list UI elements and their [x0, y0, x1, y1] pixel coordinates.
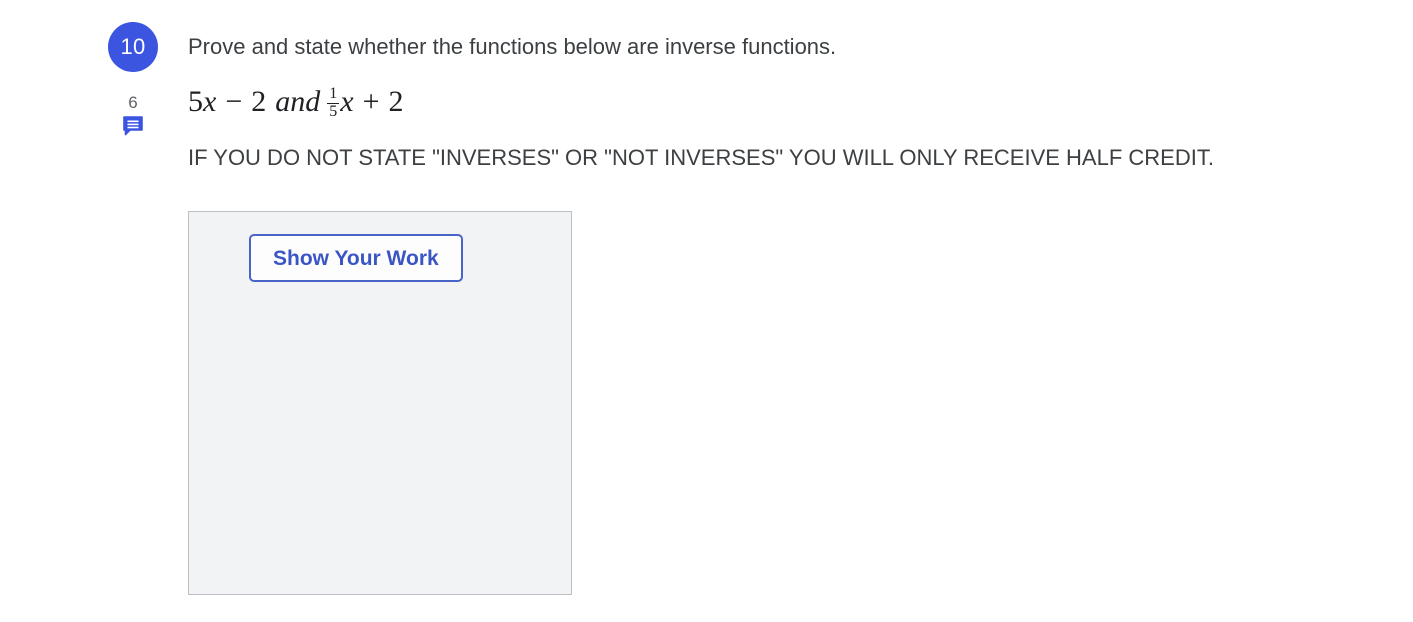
- fraction-denominator: 5: [327, 103, 339, 121]
- math-constant-2: 2: [389, 85, 404, 118]
- question-instruction-text: IF YOU DO NOT STATE "INVERSES" OR "NOT I…: [188, 142, 1214, 174]
- math-coefficient-1: 5: [188, 85, 203, 118]
- math-variable-2: x: [340, 85, 353, 118]
- math-fraction-one-fifth: 15: [327, 86, 339, 121]
- question-gutter: 10 6: [100, 22, 166, 137]
- question-container: 10 6 Prove and state whether the functio…: [0, 0, 1413, 622]
- question-number-badge: 10: [108, 22, 158, 72]
- comment-count: 6: [100, 94, 166, 111]
- comment-bubble-icon[interactable]: [122, 115, 144, 137]
- math-conjunction: and: [266, 85, 327, 118]
- math-variable-1: x: [203, 85, 216, 118]
- fraction-numerator: 1: [327, 86, 339, 103]
- math-expression: 5x−2and15x+2: [188, 82, 404, 122]
- work-area-panel: Show Your Work: [188, 211, 572, 595]
- math-operator-plus: +: [354, 85, 389, 118]
- math-operator-minus: −: [216, 85, 251, 118]
- comment-indicator[interactable]: 6: [100, 94, 166, 137]
- show-your-work-button[interactable]: Show Your Work: [249, 234, 463, 282]
- math-constant-1: 2: [251, 85, 266, 118]
- question-prompt-text: Prove and state whether the functions be…: [188, 31, 836, 63]
